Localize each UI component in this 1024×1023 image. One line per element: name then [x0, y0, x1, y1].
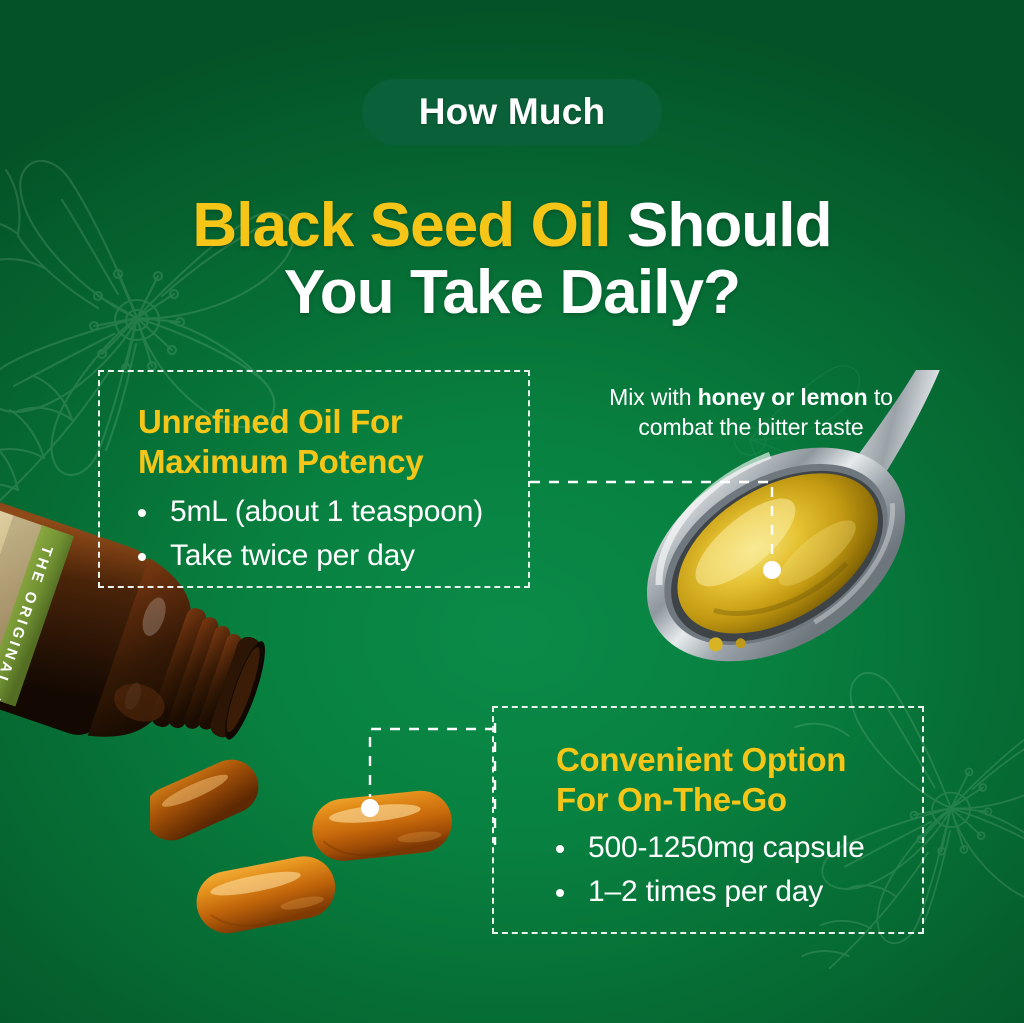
headline-white-text: Should [611, 191, 832, 260]
panel-capsule-title: Convenient Option For On-The-Go [556, 740, 956, 821]
caption-after: to [868, 384, 893, 410]
spoon-caption: Mix with honey or lemon to combat the bi… [570, 382, 932, 443]
connector-dot-icon [361, 799, 379, 817]
list-item: 500-1250mg capsule [544, 828, 964, 868]
how-much-badge: How Much [362, 79, 662, 145]
panel-oil-bullets: 5mL (about 1 teaspoon) Take twice per da… [126, 492, 546, 580]
connector-line-spoon [520, 470, 820, 600]
list-item: Take twice per day [126, 536, 546, 576]
caption-bold: honey or lemon [698, 384, 868, 410]
black-seed-oil-dosage-infographic: How Much Black Seed Oil Should You Take … [0, 0, 1024, 1023]
list-item: 5mL (about 1 teaspoon) [126, 492, 546, 532]
panel-capsule-bullets: 500-1250mg capsule 1–2 times per day [544, 828, 964, 916]
page-title: Black Seed Oil Should You Take Daily? [0, 194, 1024, 324]
svg-text:THE ORIGINAL #1 SE: THE ORIGINAL #1 SE [0, 544, 56, 753]
list-item: 1–2 times per day [544, 872, 964, 912]
caption-before: Mix with [609, 384, 698, 410]
badge-label: How Much [419, 91, 606, 133]
softgel-capsule-icon [150, 755, 500, 945]
caption-line-two: combat the bitter taste [638, 414, 863, 440]
headline-line-two: You Take Daily? [0, 261, 1024, 324]
connector-dot-icon [763, 561, 781, 579]
nigella-flower-line-art-icon [600, 300, 900, 600]
panel-oil-title: Unrefined Oil For Maximum Potency [138, 402, 538, 483]
headline-gold-text: Black Seed Oil [192, 191, 610, 260]
